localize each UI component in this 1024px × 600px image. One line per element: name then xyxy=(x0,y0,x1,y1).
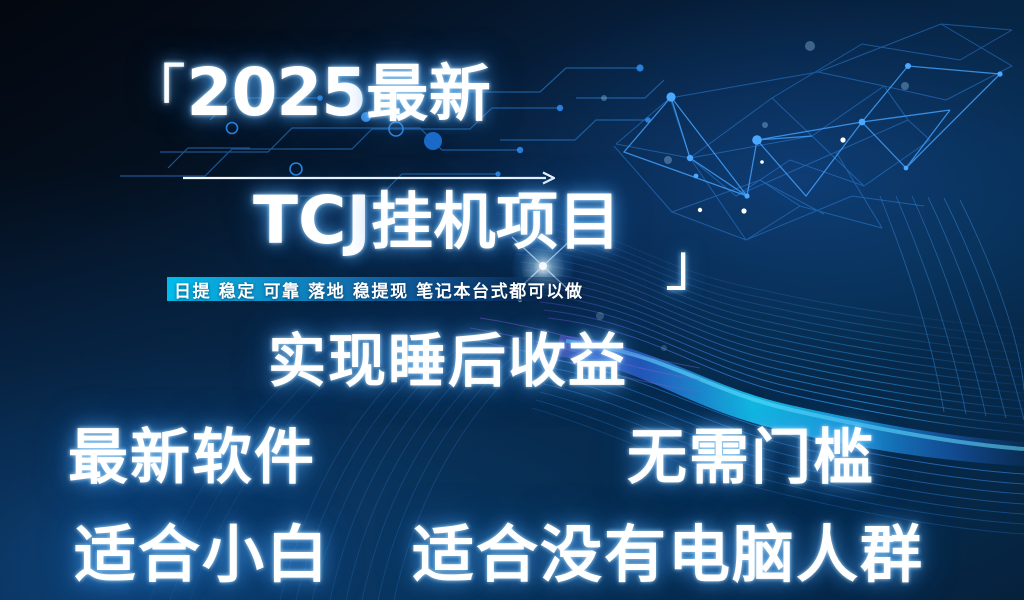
headline-year: 2025 xyxy=(187,54,367,131)
feature-no-computer: 适合没有电脑人群 xyxy=(412,524,924,586)
headline-brand: TCJ xyxy=(253,182,371,259)
headline-line-1-text: 最新 xyxy=(366,57,491,130)
promo-poster: 「2025最新 TCJ挂机项目 」 日提 稳定 可靠 落地 稳提现 笔记本台式都… xyxy=(0,0,1024,600)
open-bracket: 「 xyxy=(124,57,187,130)
headline-line-2: TCJ挂机项目 xyxy=(253,188,621,254)
feature-latest-software: 最新软件 xyxy=(68,428,316,488)
feature-beginner-friendly: 适合小白 xyxy=(74,524,330,586)
headline-line-1: 「2025最新 xyxy=(124,60,491,126)
feature-no-threshold: 无需门槛 xyxy=(627,428,875,488)
close-bracket: 」 xyxy=(665,218,723,302)
benefit-headline: 实现睡后收益 xyxy=(268,332,628,390)
subtitle-tags-text: 日提 稳定 可靠 落地 稳提现 笔记本台式都可以做 xyxy=(174,277,584,302)
headline-line-2-text: 挂机项目 xyxy=(371,185,621,258)
subtitle-tags-bar: 日提 稳定 可靠 落地 稳提现 笔记本台式都可以做 xyxy=(167,277,590,301)
